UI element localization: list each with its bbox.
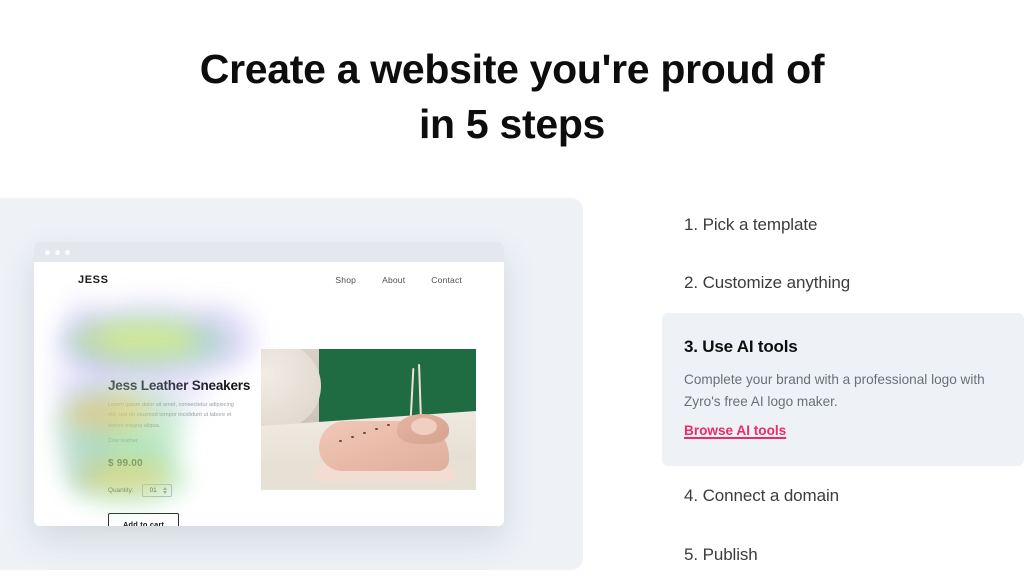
step-item-3-active-panel[interactable]: 3. Use AI tools Complete your brand with…	[662, 313, 1024, 466]
product-price: $ 99.00	[108, 458, 250, 469]
quantity-value: 01	[150, 487, 157, 494]
quantity-row: Quantity: 01	[108, 484, 250, 497]
browser-dot-minimize-icon	[55, 250, 60, 255]
product-material: Cow leather	[108, 438, 250, 444]
browser-mockup: JESS Shop About Contact Jess Leather Sne…	[34, 242, 504, 526]
quantity-stepper[interactable]: 01	[142, 484, 172, 497]
step-item-4[interactable]: 4. Connect a domain	[684, 486, 1024, 506]
step-item-2[interactable]: 2. Customize anything	[684, 273, 1024, 293]
browser-chrome-bar	[34, 242, 504, 262]
page-title-line-1: Create a website you're proud of	[200, 46, 824, 92]
site-nav: Shop About Contact	[335, 275, 462, 285]
page-root: Create a website you're proud of in 5 st…	[0, 0, 1024, 580]
step-item-3-description: Complete your brand with a professional …	[684, 369, 1002, 413]
nav-item-contact[interactable]: Contact	[431, 275, 462, 285]
showcase-panel: JESS Shop About Contact Jess Leather Sne…	[0, 198, 583, 570]
steps-list: 1. Pick a template 2. Customize anything…	[662, 198, 1024, 580]
product-title: Jess Leather Sneakers	[108, 378, 250, 393]
browser-dot-close-icon	[45, 250, 50, 255]
product-description: Lorem ipsum dolor sit amet, consectetur …	[108, 400, 236, 431]
step-item-1[interactable]: 1. Pick a template	[684, 215, 1024, 235]
step-item-3-title: 3. Use AI tools	[684, 337, 1002, 357]
website-preview: JESS Shop About Contact Jess Leather Sne…	[34, 262, 504, 526]
add-to-cart-button[interactable]: Add to cart	[108, 513, 179, 526]
quantity-label: Quantity:	[108, 487, 134, 494]
product-image	[261, 349, 476, 490]
product-section: Jess Leather Sneakers Lorem ipsum dolor …	[34, 286, 504, 300]
browser-dot-maximize-icon	[65, 250, 70, 255]
nav-item-about[interactable]: About	[382, 275, 405, 285]
product-info: Jess Leather Sneakers Lorem ipsum dolor …	[108, 378, 250, 526]
nav-item-shop[interactable]: Shop	[335, 275, 356, 285]
site-logo: JESS	[78, 274, 109, 286]
spinner-arrows-icon[interactable]	[163, 487, 167, 494]
page-title: Create a website you're proud of in 5 st…	[0, 42, 1024, 151]
site-header: JESS Shop About Contact	[34, 262, 504, 286]
step-item-5[interactable]: 5. Publish	[684, 545, 1024, 565]
page-title-line-2: in 5 steps	[0, 97, 1024, 152]
sneaker-illustration	[313, 412, 455, 482]
browse-ai-tools-link[interactable]: Browse AI tools	[684, 423, 786, 438]
